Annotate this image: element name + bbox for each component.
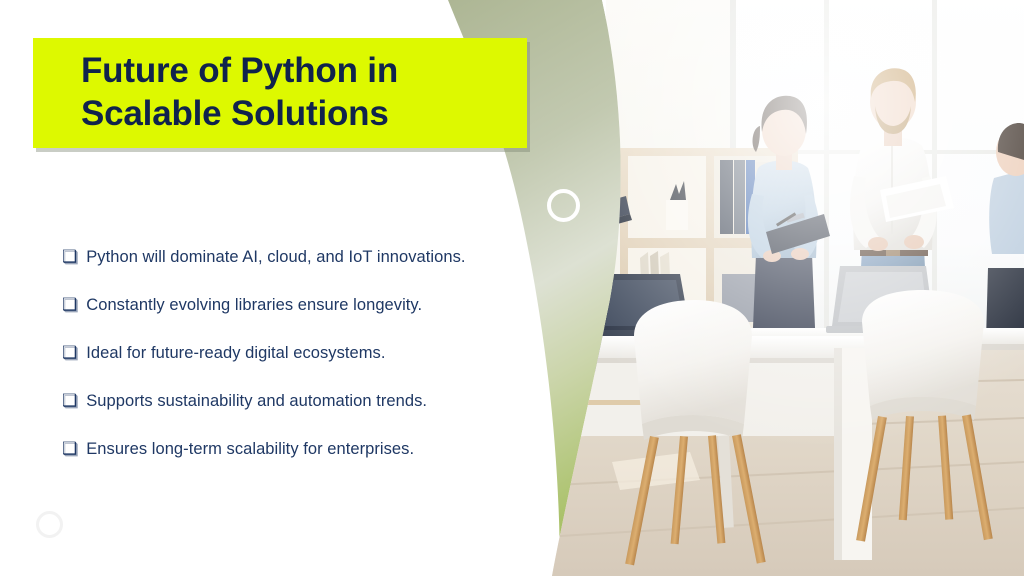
checkbox-square-icon: ❑ [62,392,77,409]
checkbox-square-icon: ❑ [62,440,77,457]
list-item: ❑ Ideal for future-ready digital ecosyst… [62,344,532,392]
list-item: ❑ Python will dominate AI, cloud, and Io… [62,248,532,296]
office-photo [494,0,1024,576]
checkbox-square-icon: ❑ [62,248,77,265]
list-item: ❑ Ensures long-term scalability for ente… [62,440,532,488]
list-item: ❑ Constantly evolving libraries ensure l… [62,296,532,344]
light-ring-circle-icon [36,511,63,538]
checkbox-square-icon: ❑ [62,296,77,313]
office-photo-image [494,0,1024,576]
list-item-label: Ensures long-term scalability for enterp… [86,440,414,459]
list-item-label: Ideal for future-ready digital ecosystem… [86,344,385,363]
white-ring-circle-icon [547,189,580,222]
bullet-list: ❑ Python will dominate AI, cloud, and Io… [62,248,532,488]
list-item-label: Supports sustainability and automation t… [86,392,427,411]
checkbox-square-icon: ❑ [62,344,77,361]
title-block: Future of Python in Scalable Solutions [33,38,527,148]
list-item: ❑ Supports sustainability and automation… [62,392,532,440]
list-item-label: Constantly evolving libraries ensure lon… [86,296,422,315]
list-item-label: Python will dominate AI, cloud, and IoT … [86,248,465,267]
slide: Future of Python in Scalable Solutions ❑… [0,0,1024,576]
page-title: Future of Python in Scalable Solutions [33,50,398,135]
